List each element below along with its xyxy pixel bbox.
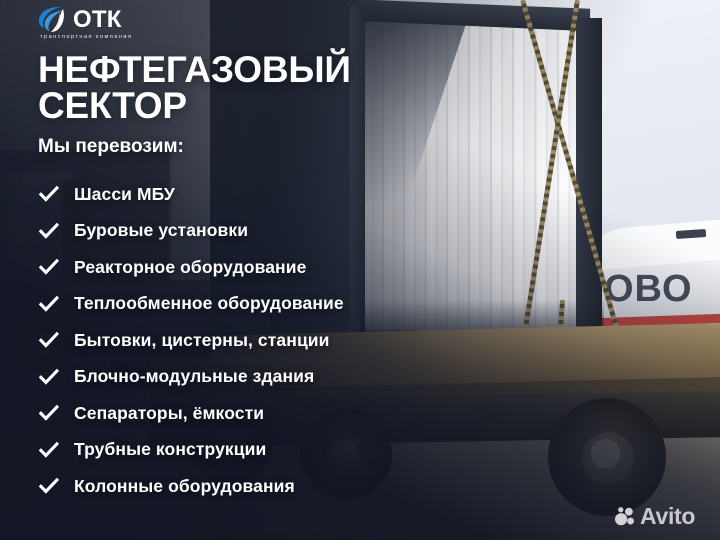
- brand-tagline: транспортная компания: [40, 34, 132, 40]
- check-icon: [38, 220, 60, 242]
- list-item-label: Теплообменное оборудование: [74, 293, 344, 314]
- check-icon: [38, 329, 60, 351]
- list-item-label: Блочно-модульные здания: [74, 366, 314, 387]
- list-item[interactable]: Буровые установки: [38, 213, 344, 250]
- page-title-line2: СЕКТОР: [38, 88, 468, 124]
- list-item-label: Реакторное оборудование: [74, 257, 306, 278]
- subheading: Мы перевозим:: [38, 136, 184, 158]
- brand-name: ОТК: [73, 8, 122, 32]
- avito-wordmark: Avito: [640, 505, 695, 528]
- list-item[interactable]: Трубные конструкции: [38, 432, 344, 469]
- page-title-line1: НЕФТЕГАЗОВЫЙ: [38, 52, 468, 88]
- check-icon: [38, 293, 60, 315]
- check-icon: [38, 183, 60, 205]
- content-layer: ОТК транспортная компания НЕФТЕГАЗОВЫЙ С…: [0, 0, 720, 540]
- services-list: Шасси МБУ Буровые установки Реакторное о…: [38, 176, 344, 505]
- list-item[interactable]: Колонные оборудования: [38, 468, 344, 505]
- list-item-label: Бытовки, цистерны, станции: [74, 330, 330, 351]
- list-item[interactable]: Шасси МБУ: [38, 176, 344, 213]
- list-item[interactable]: Блочно-модульные здания: [38, 359, 344, 396]
- list-item[interactable]: Реакторное оборудование: [38, 249, 344, 286]
- check-icon: [38, 402, 60, 424]
- check-icon: [38, 256, 60, 278]
- avito-dots-icon: [614, 506, 636, 528]
- list-item[interactable]: Бытовки, цистерны, станции: [38, 322, 344, 359]
- promo-banner: ОВО: [0, 0, 720, 540]
- brand-logo[interactable]: ОТК транспортная компания: [38, 6, 132, 40]
- otk-swoosh-leaf-icon: [38, 6, 69, 33]
- page-title: НЕФТЕГАЗОВЫЙ СЕКТОР: [38, 52, 468, 124]
- list-item-label: Буровые установки: [74, 220, 248, 241]
- check-icon: [38, 439, 60, 461]
- list-item[interactable]: Сепараторы, ёмкости: [38, 395, 344, 432]
- check-icon: [38, 366, 60, 388]
- list-item-label: Шасси МБУ: [74, 184, 175, 205]
- avito-watermark: Avito: [614, 505, 695, 528]
- list-item-label: Сепараторы, ёмкости: [74, 403, 264, 424]
- check-icon: [38, 475, 60, 497]
- list-item[interactable]: Теплообменное оборудование: [38, 286, 344, 323]
- list-item-label: Трубные конструкции: [74, 439, 266, 460]
- brand-logo-row: ОТК: [38, 6, 132, 33]
- list-item-label: Колонные оборудования: [74, 476, 295, 497]
